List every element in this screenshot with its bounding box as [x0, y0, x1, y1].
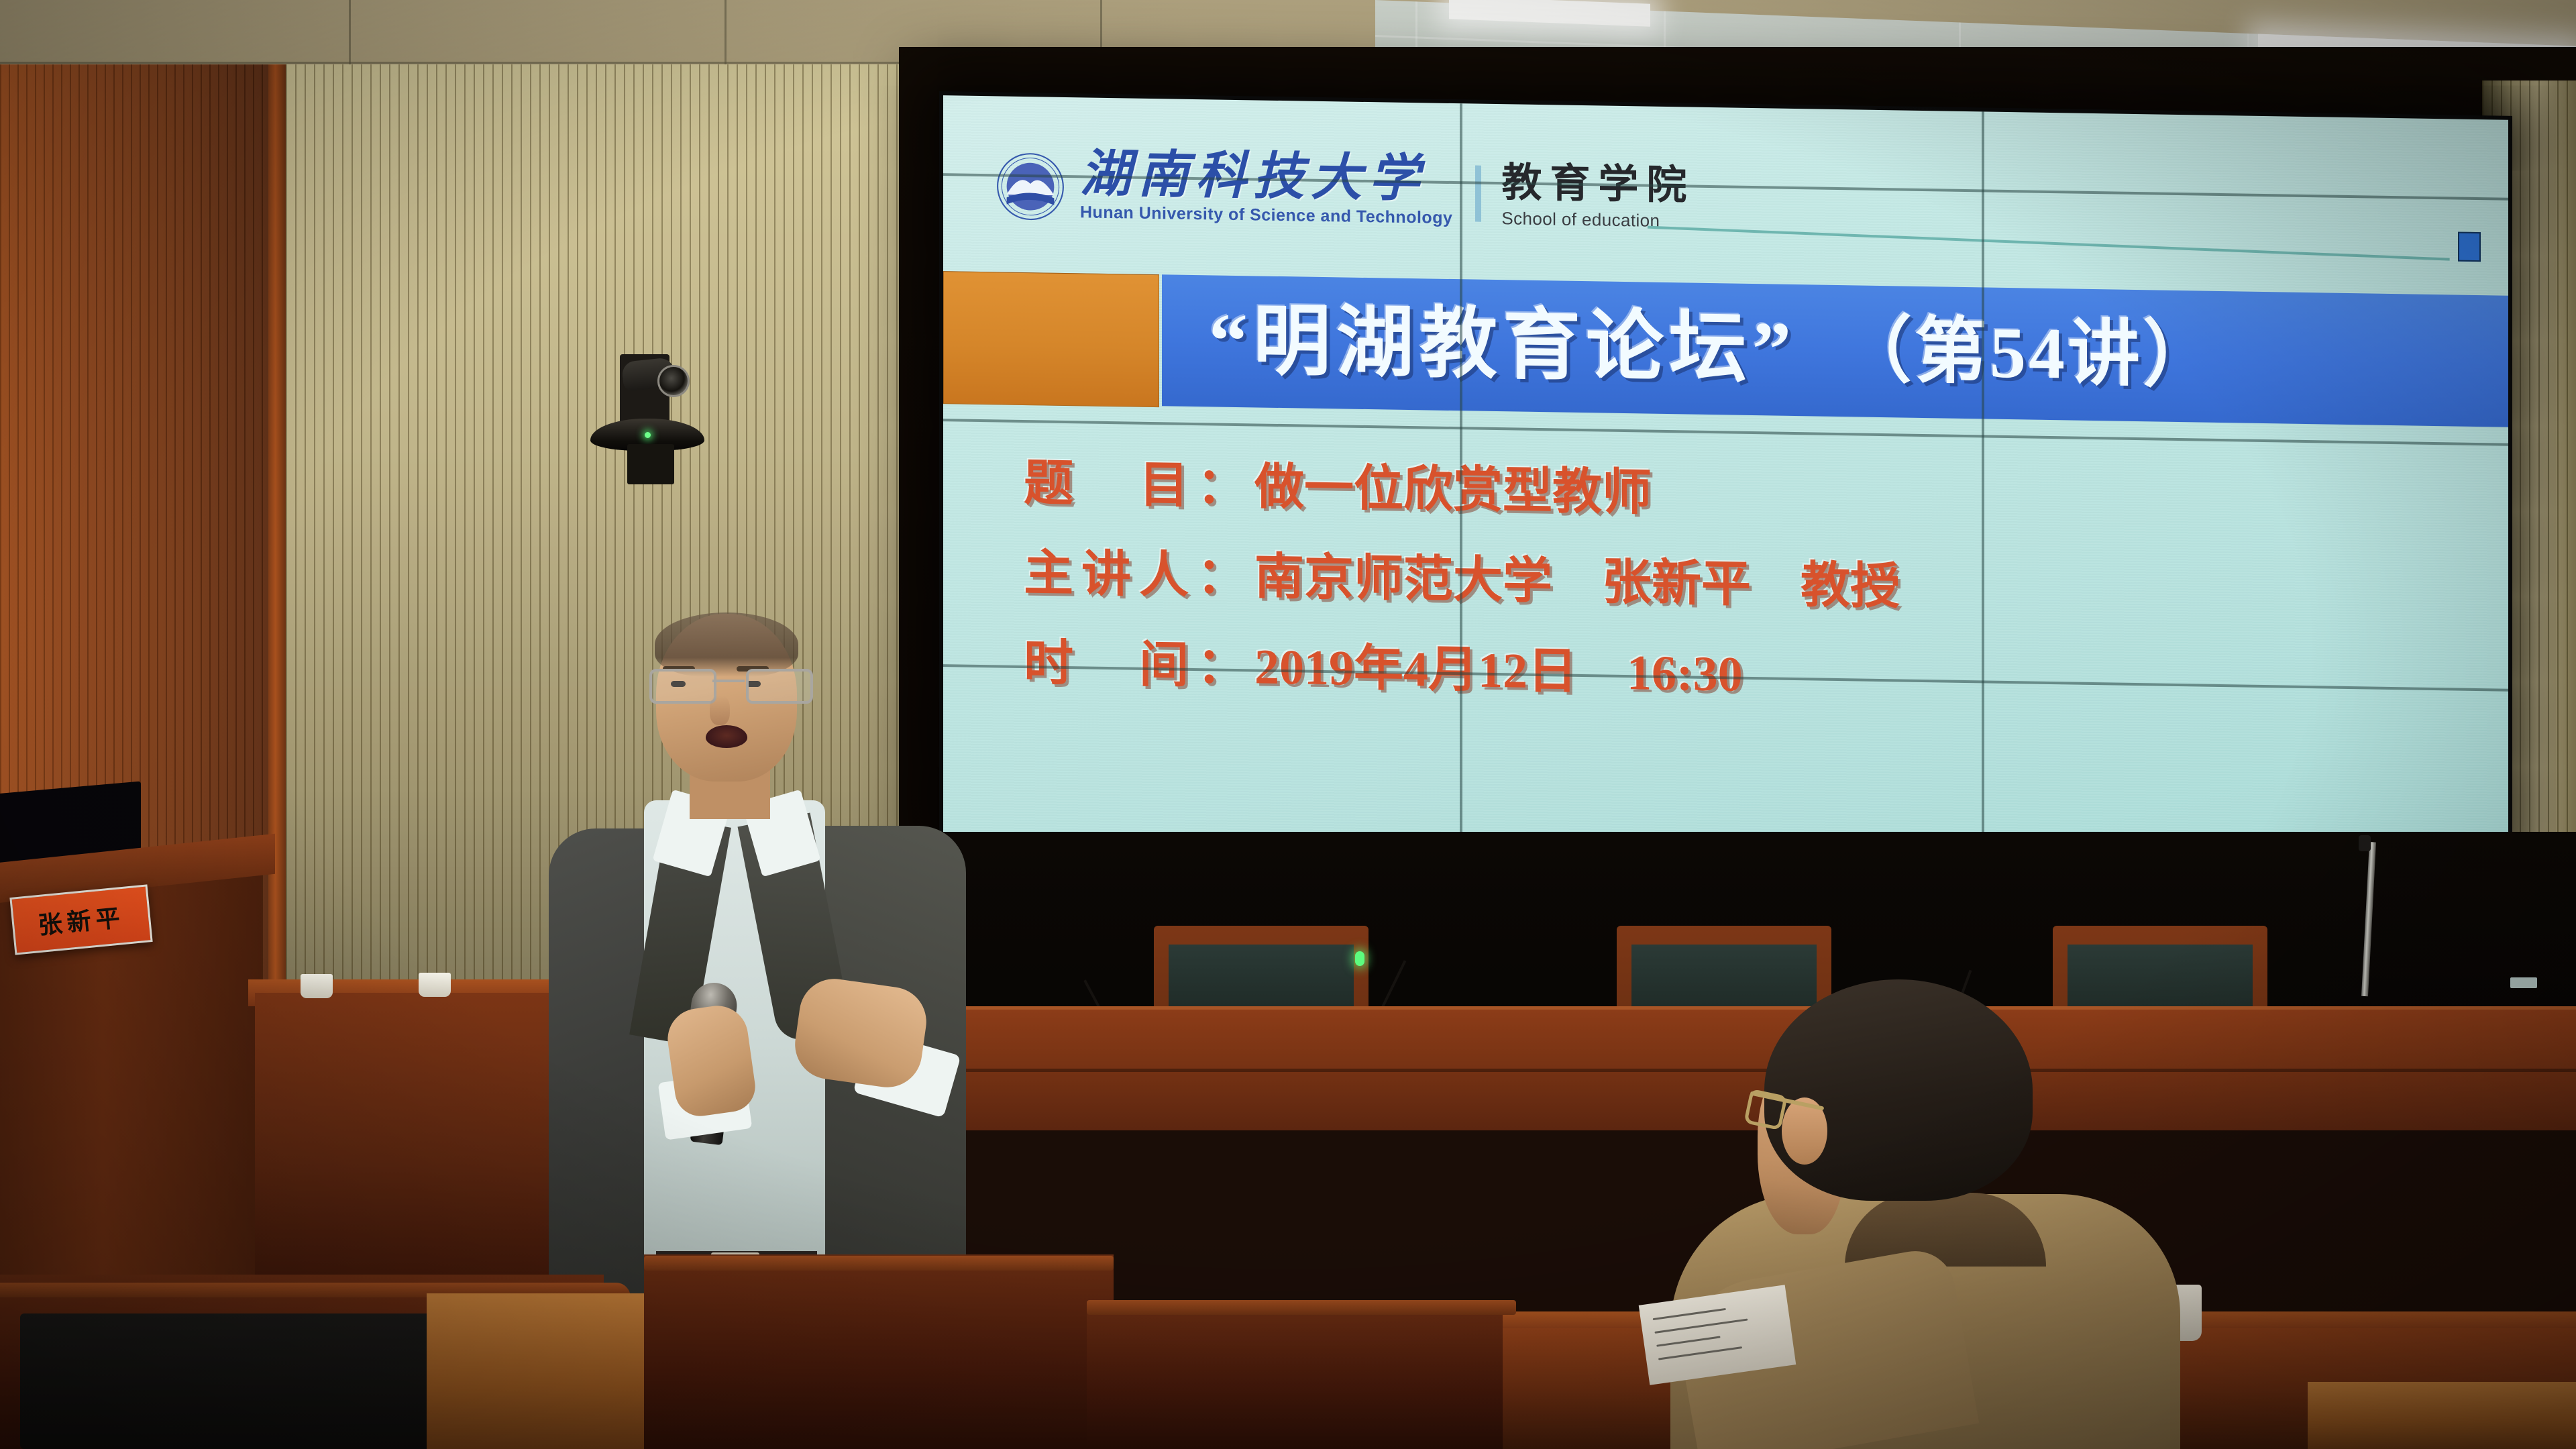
presentation-slide: 湖南科技大学 Hunan University of Science and T… — [943, 95, 2508, 865]
camera-lens-icon — [657, 365, 690, 397]
bench-side-panel-right — [2308, 1382, 2576, 1449]
speaker-mouth — [706, 725, 747, 748]
paper-cup-2 — [419, 973, 451, 997]
speaker-hand-right — [790, 975, 930, 1092]
camera-led-indicator — [645, 432, 651, 438]
topic-label: 题 目： — [1024, 459, 1254, 512]
ptz-camera-icon — [590, 354, 704, 495]
microphone-stand-head — [2359, 835, 2371, 851]
nameplate-text: 张新平 — [36, 898, 125, 941]
audience-hair — [1764, 979, 2033, 1201]
university-logo-icon — [996, 151, 1065, 222]
header-rule — [1648, 226, 2450, 261]
panel-seam-v2 — [1982, 111, 1984, 856]
mic-led-1 — [1355, 951, 1364, 966]
bench-rail-2 — [644, 1256, 1114, 1271]
panel-seam-v1 — [1460, 103, 1462, 848]
paper-cup-1 — [301, 974, 333, 998]
forum-title: “明湖教育论坛” — [1209, 302, 1796, 389]
speaker-value: 南京师范大学 张新平 教授 — [1254, 549, 1900, 614]
wall-label-plate — [2510, 977, 2537, 988]
banner-blue-block: “明湖教育论坛” （第54讲） — [1162, 274, 2508, 427]
bench-rail-3 — [1087, 1300, 1516, 1315]
bench-side-panel — [427, 1293, 652, 1449]
audience-person — [1664, 979, 2187, 1449]
banner-orange-block — [943, 271, 1159, 407]
school-name-en: School of education — [1501, 208, 1660, 231]
time-label: 时 间： — [1024, 639, 1254, 692]
auditorium-bench-3 — [1087, 1301, 1503, 1449]
slide-header: 湖南科技大学 Hunan University of Science and T… — [996, 148, 1695, 231]
auditorium-bench-2 — [644, 1254, 1114, 1449]
topic-value: 做一位欣赏型教师 — [1254, 460, 1652, 521]
speaker-glasses-icon — [649, 669, 808, 698]
speaker-label: 主讲人： — [1024, 549, 1254, 602]
logo-divider — [1475, 166, 1481, 222]
forum-session-number: （第54讲） — [1839, 315, 2218, 393]
header-accent-square — [2458, 232, 2481, 262]
speaker-nose — [710, 696, 730, 725]
lecture-hall-photo: 湖南科技大学 Hunan University of Science and T… — [0, 0, 2576, 1449]
video-wall-display: 湖南科技大学 Hunan University of Science and T… — [939, 91, 2512, 869]
wall-trim-1 — [268, 64, 286, 1071]
ceiling-light-1 — [1449, 0, 1650, 27]
